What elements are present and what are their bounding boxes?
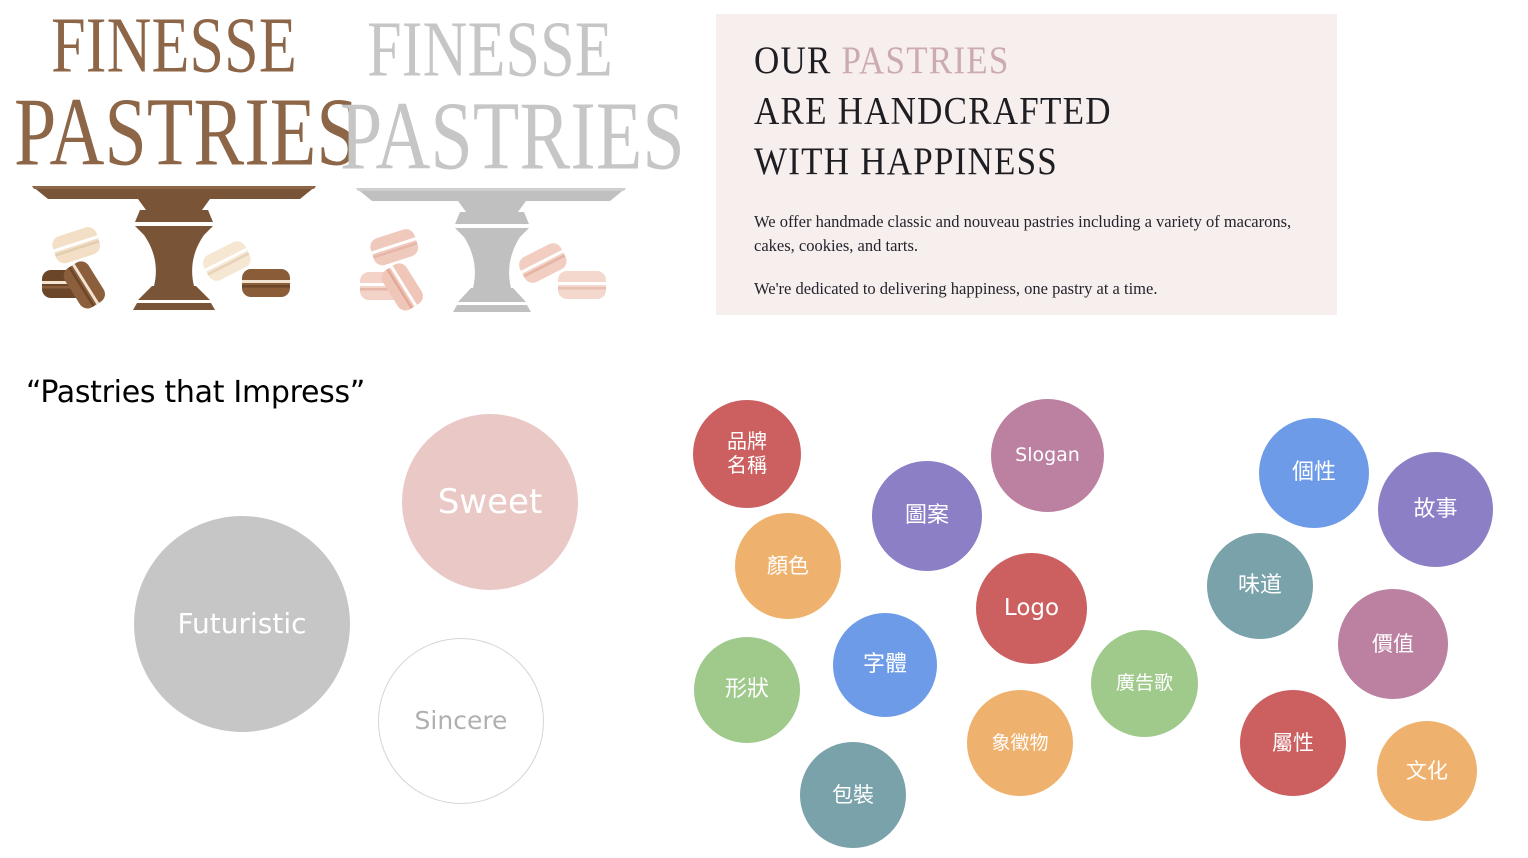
brand-element-bubble-4[interactable]: 個性 [1259,418,1369,528]
bubble-label: 文化 [1406,759,1448,784]
personality-bubble-3[interactable]: Sincere [378,638,544,804]
bubble-label: 屬性 [1272,731,1314,756]
logo-wordmark-gray: FINESSE PASTRIES [340,14,640,163]
personality-bubble-1[interactable]: Sweet [402,414,578,590]
brand-element-bubble-16[interactable]: 文化 [1377,721,1477,821]
bubble-label: Logo [1004,595,1059,622]
bubble-label: Sweet [438,482,543,522]
brand-element-bubble-5[interactable]: 故事 [1378,452,1493,567]
logo-brand-line-2-gray: PASTRIES [340,93,640,182]
heading-line-3: WITH HAPPINESS [754,136,1309,186]
heading-line-1: OUR PASTRIES [754,36,1309,86]
brand-statement-panel: OUR PASTRIES ARE HANDCRAFTED WITH HAPPIN… [716,14,1337,315]
brand-element-bubble-9[interactable]: 價值 [1338,589,1448,699]
logo-secondary-gray: FINESSE PASTRIES [340,14,640,310]
bubble-label: 個性 [1292,460,1336,486]
brand-element-bubble-8[interactable]: Logo [976,553,1087,664]
body-paragraph-2: We're dedicated to delivering happiness,… [754,277,1309,300]
brand-statement-body: We offer handmade classic and nouveau pa… [754,210,1309,300]
brand-element-bubble-11[interactable]: 形狀 [694,637,800,743]
bubble-label: 字體 [863,652,907,678]
brand-element-bubble-3[interactable]: 圖案 [872,461,982,571]
brand-tagline: “Pastries that Impress” [26,375,365,410]
brand-element-bubble-10[interactable]: 字體 [833,613,937,717]
bubble-label: 品牌 名稱 [727,430,767,477]
cake-stand-icon-gray [340,184,640,314]
bubble-label: 價值 [1372,632,1414,657]
brand-element-bubble-14[interactable]: 屬性 [1240,690,1346,796]
brand-element-bubble-6[interactable]: 顏色 [735,513,841,619]
brand-element-bubble-15[interactable]: 包裝 [800,742,906,848]
cake-stand-illustration-brown [14,182,334,317]
brand-element-bubble-1[interactable]: 品牌 名稱 [693,400,801,508]
bubble-label: 味道 [1238,573,1282,599]
personality-bubble-2[interactable]: Futuristic [134,516,350,732]
bubble-label: Futuristic [177,607,306,640]
bubble-label: 形狀 [725,677,769,703]
brand-element-bubble-13[interactable]: 象徵物 [967,690,1073,796]
heading-prefix: OUR [754,38,842,82]
bubble-label: 包裝 [832,783,874,808]
logo-brand-line-1-gray: FINESSE [340,14,640,87]
body-paragraph-1: We offer handmade classic and nouveau pa… [754,210,1309,257]
logo-brand-line-2: PASTRIES [14,89,334,178]
bubble-label: 象徵物 [991,732,1048,754]
bubble-label: 故事 [1413,497,1457,523]
logo-primary-brown: FINESSE PASTRIES [14,10,334,310]
brand-element-bubble-7[interactable]: 味道 [1207,533,1313,639]
heading-line-2: ARE HANDCRAFTED [754,86,1309,136]
brand-element-bubble-2[interactable]: Slogan [991,399,1104,512]
bubble-label: Sincere [415,706,508,736]
cake-stand-illustration-gray [340,184,640,319]
heading-highlight-pastries: PASTRIES [842,38,1010,82]
brand-element-bubble-12[interactable]: 廣告歌 [1091,630,1198,737]
bubble-label: 圖案 [905,503,949,529]
bubble-label: Slogan [1015,444,1080,466]
bubble-label: 廣告歌 [1116,672,1173,694]
cake-stand-icon [14,182,334,312]
bubble-label: 顏色 [767,554,809,579]
brand-statement-heading: OUR PASTRIES ARE HANDCRAFTED WITH HAPPIN… [754,36,1309,187]
logo-brand-line-1: FINESSE [14,10,334,83]
logo-wordmark-brown: FINESSE PASTRIES [14,10,334,159]
